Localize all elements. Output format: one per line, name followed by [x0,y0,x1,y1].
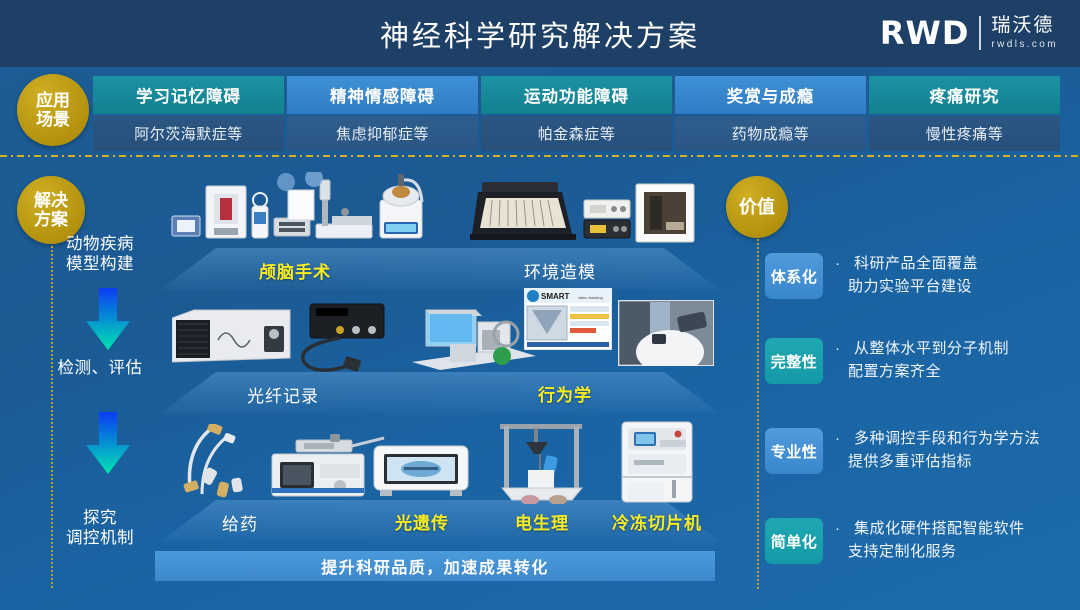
scenario-title-0: 学习记忆障碍 [93,76,284,114]
scenario-column-1[interactable]: 精神情感障碍 焦虑抑郁症等 [287,76,478,151]
gold-dash-separator [0,155,1080,157]
scenario-column-2[interactable]: 运动功能障碍 帕金森症等 [481,76,672,151]
scenario-sub-4: 慢性疼痛等 [869,116,1060,151]
behavior-photo-thumbnail [618,300,714,366]
badge-application-scene: 应用 场景 [17,74,89,146]
caption-cranial-surgery: 颅脑手术 [230,258,360,283]
scenario-title-4: 疼痛研究 [869,76,1060,114]
scenario-column-3[interactable]: 奖赏与成瘾 药物成瘾等 [675,76,866,151]
value-line-1-1: 配置方案齐全 [848,361,1009,384]
flow-step-3-line2: 调控机制 [35,528,165,548]
flow-step-2-label: 检测、评估 [35,358,165,378]
logo-wordmark: RWD [880,14,970,52]
scenario-sub-1: 焦虑抑郁症等 [287,116,478,151]
scenario-sub-3: 药物成瘾等 [675,116,866,151]
fiber-photometry-equipment-group [172,300,422,372]
badge-solution-line2: 方案 [34,210,68,229]
value-line-1-0: 从整体水平到分子机制 [848,338,1009,361]
scenario-sub-0: 阿尔茨海默症等 [93,116,284,151]
value-line-0-1: 助力实验平台建设 [848,276,978,299]
value-bullet-1: · [835,338,840,357]
value-line-3-0: 集成化硬件搭配智能软件 [848,518,1025,541]
logo-website: rwdls.com [991,39,1058,50]
flow-step-2: 检测、评估 [35,358,165,378]
value-line-0-0: 科研产品全面覆盖 [848,253,978,276]
scenario-column-4[interactable]: 疼痛研究 慢性疼痛等 [869,76,1060,151]
caption-behavior-science: 行为学 [500,381,630,406]
caption-environment-modeling: 环境造模 [495,258,625,283]
flow-step-3: 探究 调控机制 [35,508,165,548]
value-lines-2: 多种调控手段和行为学方法 提供多重评估指标 [848,428,1040,474]
caption-drug-delivery: 给药 [180,510,300,535]
caption-optogenetics: 光遗传 [362,509,482,534]
flow-step-1-line1: 动物疾病 [35,234,165,254]
value-item-0: 体系化 · 科研产品全面覆盖 助力实验平台建设 [765,253,978,299]
brand-logo: RWD 瑞沃德 rwdls.com [880,9,1058,57]
flow-step-3-line1: 探究 [35,508,165,528]
value-bullet-0: · [835,253,840,272]
value-lines-3: 集成化硬件搭配智能软件 支持定制化服务 [848,518,1025,564]
scenario-column-0[interactable]: 学习记忆障碍 阿尔茨海默症等 [93,76,284,151]
smart-software-screenshot: SMART video tracking [524,288,612,350]
down-arrow-icon-1 [86,288,130,350]
caption-cryostat: 冷冻切片机 [597,509,717,534]
environment-modeling-equipment-group [468,178,696,252]
svg-text:SMART: SMART [541,292,570,301]
value-line-2-0: 多种调控手段和行为学方法 [848,428,1040,451]
badge-value: 价值 [726,176,788,238]
value-bullet-2: · [835,428,840,447]
cannula-set-art [178,424,264,500]
flow-step-1: 动物疾病 模型构建 [35,234,165,274]
value-tag-0: 体系化 [765,253,823,299]
scenario-sub-2: 帕金森症等 [481,116,672,151]
page-title: 神经科学研究解决方案 [380,13,700,55]
value-bullet-3: · [835,518,840,537]
logo-divider [979,16,981,50]
value-item-2: 专业性 · 多种调控手段和行为学方法 提供多重评估指标 [765,428,1040,474]
cryostat-machine [614,420,700,504]
value-lines-1: 从整体水平到分子机制 配置方案齐全 [848,338,1009,384]
value-tag-3: 简单化 [765,518,823,564]
logo-chinese-name: 瑞沃德 [991,16,1058,37]
value-tag-2: 专业性 [765,428,823,474]
value-item-3: 简单化 · 集成化硬件搭配智能软件 支持定制化服务 [765,518,1025,564]
value-item-1: 完整性 · 从整体水平到分子机制 配置方案齐全 [765,338,1009,384]
caption-electrophysiology: 电生理 [482,509,602,534]
svg-text:video tracking: video tracking [578,295,603,300]
value-tag-1: 完整性 [765,338,823,384]
badge-value-label: 价值 [739,197,775,217]
page-header: 神经科学研究解决方案 RWD 瑞沃德 rwdls.com [0,0,1080,67]
flow-step-1-line2: 模型构建 [35,254,165,274]
value-line-2-1: 提供多重评估指标 [848,451,1040,474]
badge-scene-line1: 应用 [36,91,70,110]
value-line-3-1: 支持定制化服务 [848,541,1025,564]
electrophysiology-rig [490,422,592,504]
value-lines-0: 科研产品全面覆盖 助力实验平台建设 [848,253,978,299]
scenario-title-2: 运动功能障碍 [481,76,672,114]
badge-scene-line2: 场景 [36,110,70,129]
scenario-title-3: 奖赏与成瘾 [675,76,866,114]
badge-solution-line1: 解决 [34,191,68,210]
optogenetics-controller [370,440,474,500]
caption-fiber-photometry: 光纤记录 [218,382,348,407]
bottom-tagline-banner: 提升科研品质，加速成果转化 [155,551,715,581]
surgery-equipment-group [170,172,430,252]
value-dotted-connector [757,239,759,589]
infographic-poster: 神经科学研究解决方案 RWD 瑞沃德 rwdls.com 应用 场景 解决 方案… [0,0,1080,610]
scenario-title-1: 精神情感障碍 [287,76,478,114]
scenario-table: 学习记忆障碍 阿尔茨海默症等 精神情感障碍 焦虑抑郁症等 运动功能障碍 帕金森症… [93,76,1060,151]
logo-text-group: 瑞沃德 rwdls.com [991,16,1058,50]
down-arrow-icon-2 [86,412,130,474]
behavior-chamber-equipment-group [410,300,538,380]
